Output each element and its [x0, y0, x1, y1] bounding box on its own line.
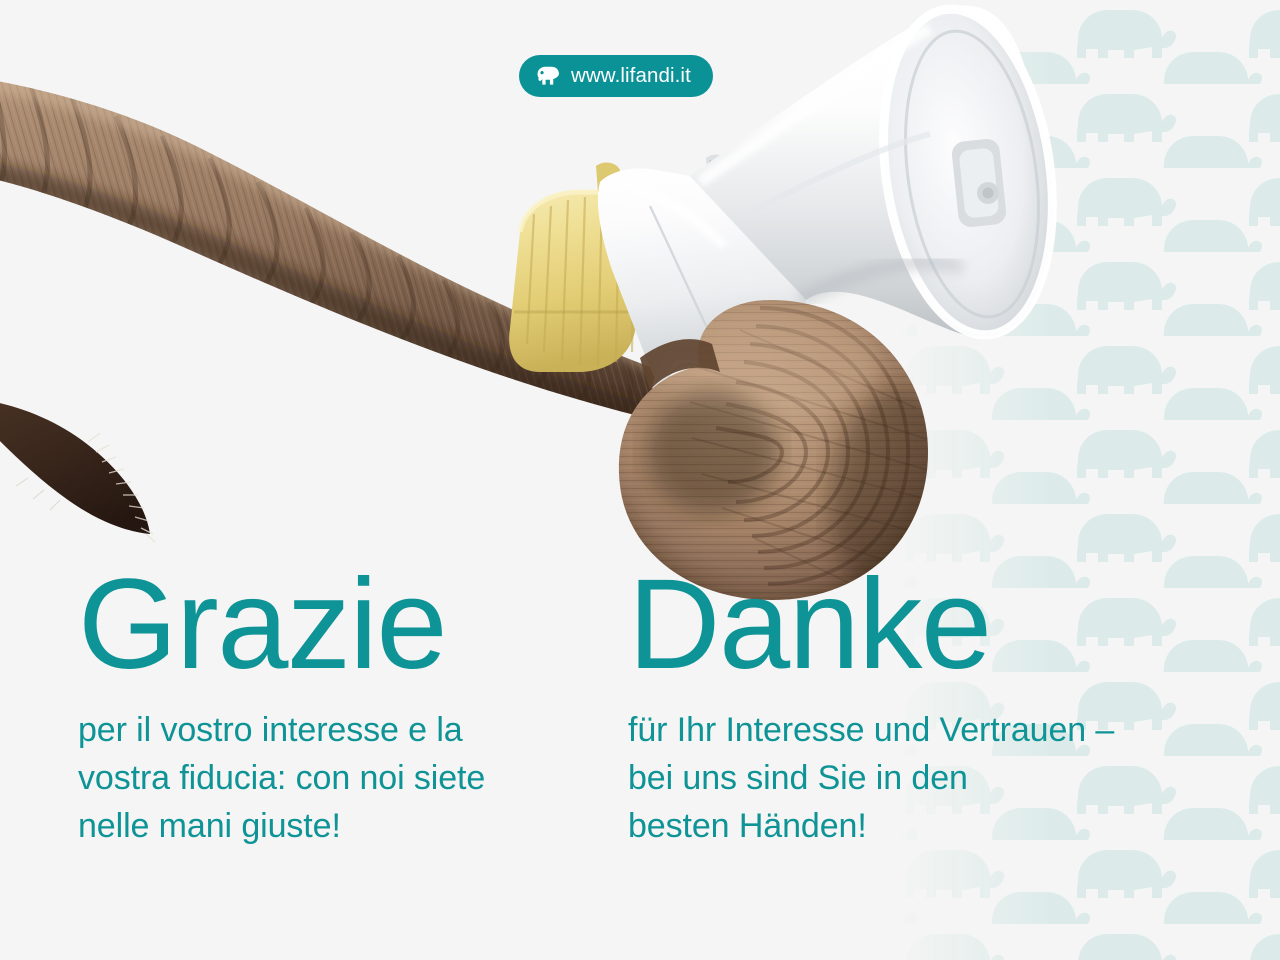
elephant-trunk [0, 60, 740, 460]
german-body-line-2: bei uns sind Sie in den [628, 754, 1248, 802]
german-body-line-3: besten Händen! [628, 802, 1248, 850]
megaphone-mouthpiece [509, 163, 649, 372]
megaphone-trigger [663, 364, 717, 428]
ear-hair-fringe [88, 433, 155, 542]
poster-canvas: www.lifandi.it Grazie per il vostro inte… [0, 0, 1280, 960]
megaphone-handle [652, 351, 724, 432]
megaphone-bell-mouth [864, 0, 1072, 346]
italian-body-line-1: per il vostro interesse e la [78, 706, 598, 754]
elephant-ear [0, 390, 160, 550]
german-headline: Danke [628, 566, 1248, 684]
italian-body-line-2: vostra fiducia: con noi siete [78, 754, 598, 802]
megaphone-bell [690, 5, 1047, 336]
megaphone-strap-lug [951, 138, 1008, 229]
italian-body-line-3: nelle mani giuste! [78, 802, 598, 850]
elephant-icon [536, 66, 560, 86]
italian-text-column: Grazie per il vostro interesse e la vost… [78, 566, 598, 850]
website-url-badge[interactable]: www.lifandi.it [519, 55, 713, 97]
german-body: für Ihr Interesse und Vertrauen – bei un… [628, 706, 1248, 850]
italian-headline: Grazie [78, 566, 598, 684]
german-body-line-1: für Ihr Interesse und Vertrauen – [628, 706, 1248, 754]
megaphone-antenna [706, 155, 730, 190]
megaphone-barrel [598, 169, 806, 403]
german-text-column: Danke für Ihr Interesse und Vertrauen – … [628, 566, 1248, 850]
italian-body: per il vostro interesse e la vostra fidu… [78, 706, 598, 850]
website-url-text: www.lifandi.it [571, 64, 691, 88]
